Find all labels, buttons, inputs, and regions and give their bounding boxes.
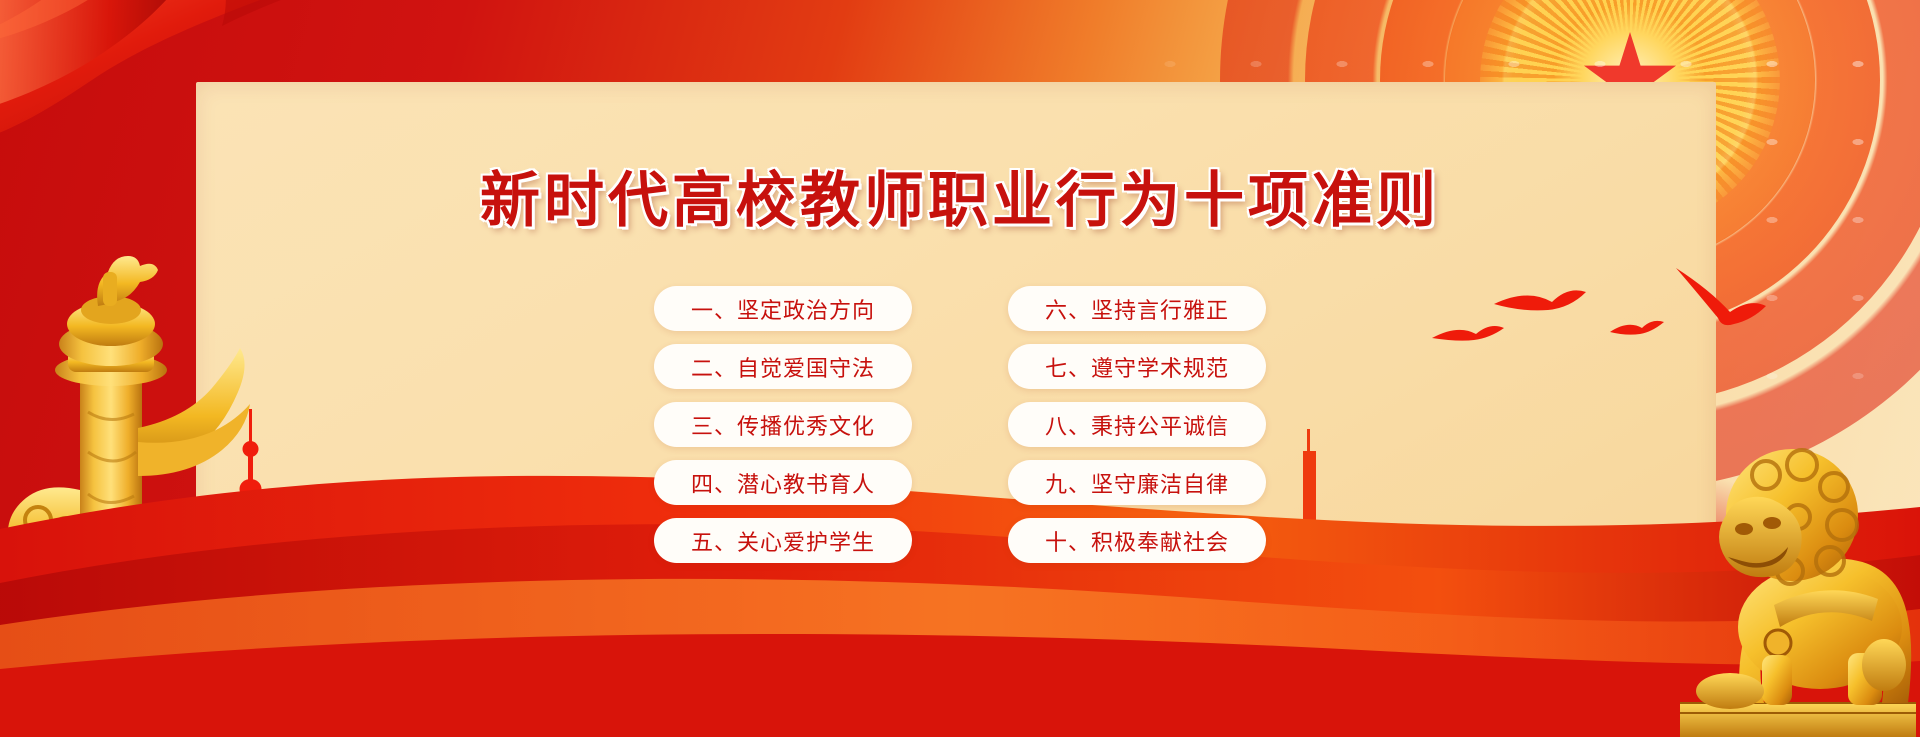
page-title: 新时代高校教师职业行为十项准则 (0, 152, 1920, 239)
guidelines-left-column: 一、坚定政治方向 二、自觉爱国守法 三、传播优秀文化 四、潜心教书育人 五、关心… (654, 286, 912, 563)
guideline-item-3[interactable]: 三、传播优秀文化 (654, 402, 912, 447)
guideline-item-7[interactable]: 七、遵守学术规范 (1008, 344, 1266, 389)
guideline-item-4[interactable]: 四、潜心教书育人 (654, 460, 912, 505)
guideline-item-9[interactable]: 九、坚守廉洁自律 (1008, 460, 1266, 505)
guideline-item-1[interactable]: 一、坚定政治方向 (654, 286, 912, 331)
guideline-item-2[interactable]: 二、自觉爱国守法 (654, 344, 912, 389)
guideline-item-5[interactable]: 五、关心爱护学生 (654, 518, 912, 563)
guideline-label: 二、自觉爱国守法 (691, 351, 875, 383)
guideline-item-6[interactable]: 六、坚持言行雅正 (1008, 286, 1266, 331)
guideline-label: 三、传播优秀文化 (691, 409, 875, 441)
guideline-label: 五、关心爱护学生 (691, 525, 875, 557)
guideline-item-8[interactable]: 八、秉持公平诚信 (1008, 402, 1266, 447)
guideline-item-10[interactable]: 十、积极奉献社会 (1008, 518, 1266, 563)
guideline-label: 四、潜心教书育人 (691, 467, 875, 499)
guideline-label: 十、积极奉献社会 (1045, 525, 1229, 557)
guideline-label: 九、坚守廉洁自律 (1045, 467, 1229, 499)
guideline-label: 八、秉持公平诚信 (1045, 409, 1229, 441)
guidelines-right-column: 六、坚持言行雅正 七、遵守学术规范 八、秉持公平诚信 九、坚守廉洁自律 十、积极… (1008, 286, 1266, 563)
guideline-label: 一、坚定政治方向 (691, 293, 875, 325)
banner-root: 新时代高校教师职业行为十项准则 一、坚定政治方向 二、自觉爱国守法 三、传播优秀… (0, 0, 1920, 737)
guidelines-list: 一、坚定政治方向 二、自觉爱国守法 三、传播优秀文化 四、潜心教书育人 五、关心… (0, 286, 1920, 563)
guideline-label: 七、遵守学术规范 (1045, 351, 1229, 383)
guideline-label: 六、坚持言行雅正 (1045, 293, 1229, 325)
